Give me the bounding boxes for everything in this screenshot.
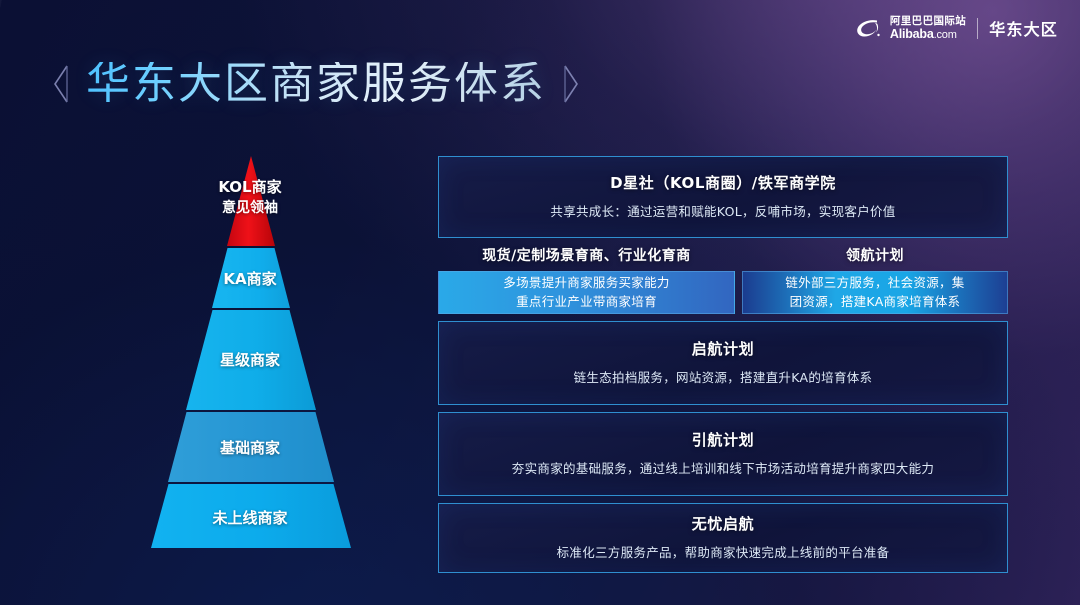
card-yinhang[interactable]: 引航计划 夯实商家的基础服务，通过线上培训和线下市场活动培育提升商家四大能力 [438, 412, 1008, 496]
card-yinhang-title: 引航计划 [692, 429, 754, 450]
brand-header: 阿里巴巴国际站 Alibaba.com 华东大区 [855, 16, 1058, 41]
vertical-divider-icon [977, 18, 978, 39]
slide-canvas: 阿里巴巴国际站 Alibaba.com 华东大区 华东大区商家服务体系 [0, 0, 1080, 605]
chevron-right-icon [560, 64, 580, 104]
page-title: 华东大区商家服务体系 [86, 62, 546, 106]
card-scene-line2: 重点行业产业带商家培育 [516, 293, 657, 311]
card-linghang[interactable]: 链外部三方服务，社会资源，集 团资源，搭建KA商家培育体系 [742, 271, 1008, 314]
region-label: 华东大区 [989, 16, 1058, 40]
pyramid-tier-1-shape [227, 156, 275, 246]
split-row: 现货/定制场景育商、行业化育商 多场景提升商家服务买家能力 重点行业产业带商家培… [438, 245, 1008, 314]
split-left-heading: 现货/定制场景育商、行业化育商 [438, 245, 735, 271]
page-title-row: 华东大区商家服务体系 [52, 52, 580, 116]
card-qihang-title: 启航计划 [692, 338, 754, 359]
card-linghang-line1: 链外部三方服务，社会资源，集 [785, 274, 964, 292]
brand-wordmark: 阿里巴巴国际站 Alibaba.com [890, 16, 966, 41]
card-kol-desc: 共享共成长：通过运营和赋能KOL，反哺市场，实现客户价值 [550, 202, 895, 221]
card-kol[interactable]: D星社（KOL商圈）/铁军商学院 共享共成长：通过运营和赋能KOL，反哺市场，实… [438, 156, 1008, 238]
chevron-left-icon [52, 64, 72, 104]
card-qihang[interactable]: 启航计划 链生态拍档服务，网站资源，搭建直升KA的培育体系 [438, 321, 1008, 405]
brand-name-cn: 阿里巴巴国际站 [890, 16, 966, 27]
pyramid-tier-3-shape [186, 310, 316, 410]
alibaba-logo-icon [855, 17, 885, 39]
brand-dotcom: .com [934, 29, 957, 41]
pyramid-tier-5-shape [151, 484, 351, 548]
pyramid-shape [60, 140, 440, 570]
card-kol-title: D星社（KOL商圈）/铁军商学院 [610, 172, 836, 193]
card-wuyou-desc: 标准化三方服务产品，帮助商家快速完成上线前的平台准备 [557, 543, 890, 562]
alibaba-logo: 阿里巴巴国际站 Alibaba.com [855, 16, 966, 41]
card-wuyou[interactable]: 无忧启航 标准化三方服务产品，帮助商家快速完成上线前的平台准备 [438, 503, 1008, 573]
card-linghang-line2: 团资源，搭建KA商家培育体系 [790, 293, 961, 311]
card-scene-merchant[interactable]: 多场景提升商家服务买家能力 重点行业产业带商家培育 [438, 271, 735, 314]
service-cards-panel: D星社（KOL商圈）/铁军商学院 共享共成长：通过运营和赋能KOL，反哺市场，实… [438, 156, 1008, 573]
card-yinhang-desc: 夯实商家的基础服务，通过线上培训和线下市场活动培育提升商家四大能力 [512, 459, 934, 478]
split-column-right: 领航计划 链外部三方服务，社会资源，集 团资源，搭建KA商家培育体系 [742, 245, 1008, 314]
split-right-heading: 领航计划 [742, 245, 1008, 271]
card-scene-line1: 多场景提升商家服务买家能力 [503, 274, 669, 292]
card-wuyou-title: 无忧启航 [692, 513, 754, 534]
brand-name-en: Alibaba.com [890, 28, 966, 41]
pyramid-tier-4-shape [168, 412, 334, 482]
pyramid-tier-2-shape [212, 248, 290, 308]
card-qihang-desc: 链生态拍档服务，网站资源，搭建直升KA的培育体系 [574, 368, 873, 387]
split-column-left: 现货/定制场景育商、行业化育商 多场景提升商家服务买家能力 重点行业产业带商家培… [438, 245, 735, 314]
merchant-tier-pyramid: KOL商家 意见领袖 KA商家 星级商家 基础商家 未上线商家 [60, 140, 440, 570]
